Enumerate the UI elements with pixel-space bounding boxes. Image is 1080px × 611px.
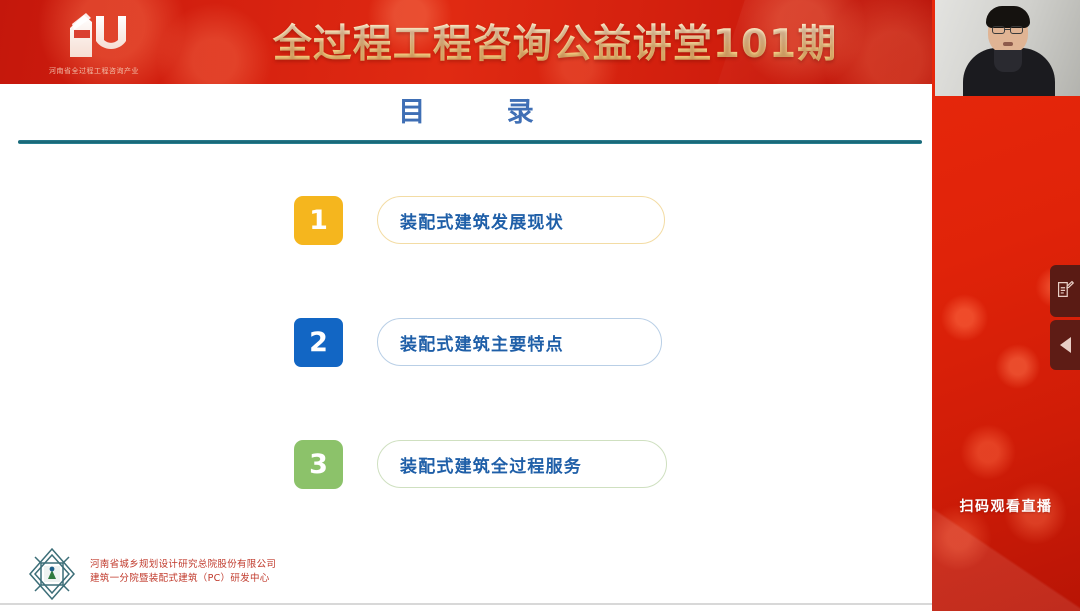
- slide-banner: 河南省全过程工程咨询产业 全过程工程咨询公益讲堂101期: [0, 0, 932, 84]
- hu-monogram-logo-icon: [60, 10, 126, 60]
- toc-item-3-label: 装配式建筑全过程服务: [400, 452, 582, 477]
- toc-item-1-label: 装配式建筑发展现状: [400, 208, 564, 233]
- webcam-person-collar: [994, 50, 1022, 72]
- webcam-person-glasses-bridge: [1005, 29, 1010, 30]
- webcam-person-glasses-right: [1010, 26, 1023, 34]
- right-side-panel: 扫码观看直播: [932, 0, 1080, 611]
- toc-item-1-pill[interactable]: 装配式建筑发展现状: [377, 196, 665, 244]
- banner-logo: 河南省全过程工程咨询产业: [22, 8, 162, 80]
- toc-item-1-number: 1: [294, 196, 343, 245]
- document-edit-icon: [1056, 280, 1075, 303]
- toc-item-1[interactable]: 1 装配式建筑发展现状: [0, 196, 932, 244]
- toc-item-2-label: 装配式建筑主要特点: [400, 330, 564, 355]
- toc-item-3-pill[interactable]: 装配式建筑全过程服务: [377, 440, 667, 488]
- toc-item-2[interactable]: 2 装配式建筑主要特点: [0, 318, 932, 366]
- banner-logo-caption: 河南省全过程工程咨询产业: [26, 66, 162, 76]
- footer-company-block: 河南省城乡规划设计研究总院股份有限公司 建筑一分院暨装配式建筑（PC）研发中心: [90, 558, 276, 586]
- toc-item-3[interactable]: 3 装配式建筑全过程服务: [0, 440, 932, 488]
- toc-heading: 目 录: [0, 90, 932, 129]
- collapse-left-arrow-icon: [1060, 337, 1071, 353]
- scan-qr-caption: 扫码观看直播: [932, 496, 1080, 516]
- toc-divider-rule: [18, 140, 922, 144]
- document-edit-tab[interactable]: [1050, 265, 1080, 317]
- footer-company-line-1: 河南省城乡规划设计研究总院股份有限公司: [90, 558, 276, 572]
- toc-item-2-pill[interactable]: 装配式建筑主要特点: [377, 318, 662, 366]
- toc-list: 1 装配式建筑发展现状 2 装配式建筑主要特点 3 装配式建筑全过程服务: [0, 196, 932, 562]
- presentation-slide: 河南省全过程工程咨询产业 全过程工程咨询公益讲堂101期 目 录 1 装配式建筑…: [0, 0, 932, 611]
- collapse-panel-tab[interactable]: [1050, 320, 1080, 370]
- webcam-person-hair: [986, 6, 1030, 28]
- webcam-person-glasses-left: [992, 26, 1005, 34]
- slide-footer: 河南省城乡规划设计研究总院股份有限公司 建筑一分院暨装配式建筑（PC）研发中心: [24, 546, 324, 602]
- toc-item-3-number: 3: [294, 440, 343, 489]
- slide-bottom-rule: [0, 603, 932, 605]
- presenter-webcam[interactable]: [935, 0, 1080, 96]
- institute-emblem-logo-icon: [24, 546, 80, 602]
- banner-title: 全过程工程咨询公益讲堂101期: [225, 12, 885, 70]
- footer-company-line-2: 建筑一分院暨装配式建筑（PC）研发中心: [90, 572, 276, 586]
- livestream-screen: 河南省全过程工程咨询产业 全过程工程咨询公益讲堂101期 目 录 1 装配式建筑…: [0, 0, 1080, 611]
- webcam-person-mouth: [1003, 42, 1013, 46]
- toc-item-2-number: 2: [294, 318, 343, 367]
